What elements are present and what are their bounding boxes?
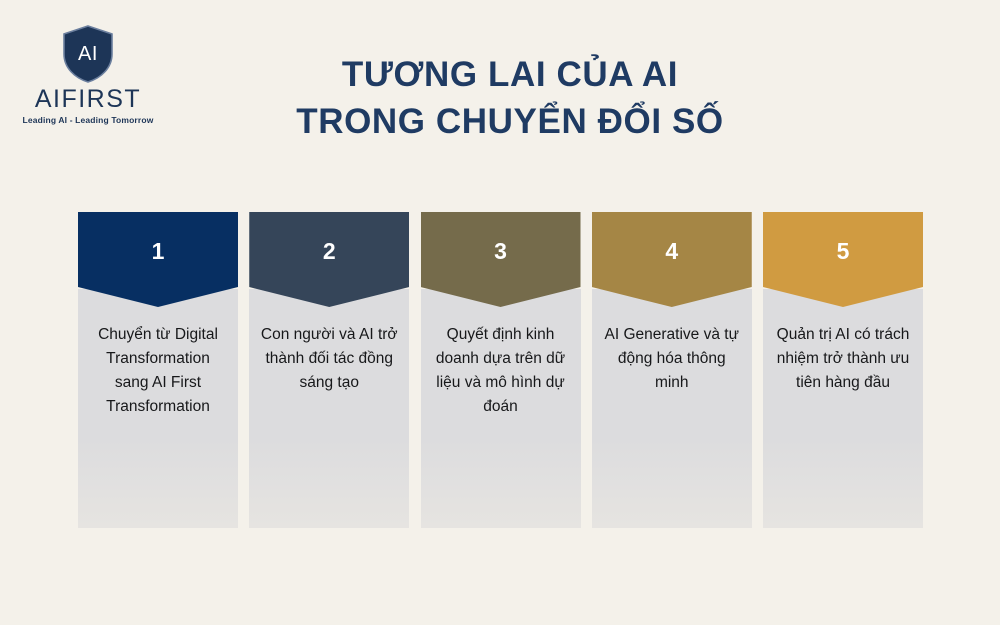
- card-number: 5: [837, 240, 850, 263]
- card-number: 4: [665, 240, 678, 263]
- card-number: 3: [494, 240, 507, 263]
- card-header: 5: [763, 212, 923, 307]
- card-body: Con người và AI trở thành đối tác đồng s…: [249, 289, 409, 528]
- trend-card[interactable]: 4 AI Generative và tự động hóa thông min…: [592, 212, 752, 528]
- card-header: 3: [421, 212, 581, 307]
- svg-text:AI: AI: [78, 43, 98, 65]
- trend-card[interactable]: 5 Quản trị AI có trách nhiệm trở thành ư…: [763, 212, 923, 528]
- page-title: TƯƠNG LAI CỦA AI TRONG CHUYỂN ĐỔI SỐ: [200, 52, 820, 145]
- card-body: Chuyển từ Digital Transformation sang AI…: [78, 289, 238, 528]
- shield-ai-icon: AI: [61, 24, 115, 84]
- trend-card[interactable]: 3 Quyết định kinh doanh dựa trên dữ liệu…: [421, 212, 581, 528]
- card-header: 4: [592, 212, 752, 307]
- card-body: AI Generative và tự động hóa thông minh: [592, 289, 752, 528]
- card-text: Quản trị AI có trách nhiệm trở thành ưu …: [774, 323, 912, 395]
- brand-logo: AI AIFIRST Leading AI - Leading Tomorrow: [18, 24, 158, 126]
- card-text: AI Generative và tự động hóa thông minh: [603, 323, 741, 395]
- card-body: Quản trị AI có trách nhiệm trở thành ưu …: [763, 289, 923, 528]
- card-header: 2: [249, 212, 409, 307]
- trend-card[interactable]: 2 Con người và AI trở thành đối tác đồng…: [249, 212, 409, 528]
- card-text: Chuyển từ Digital Transformation sang AI…: [89, 323, 227, 419]
- card-text: Quyết định kinh doanh dựa trên dữ liệu v…: [432, 323, 570, 419]
- brand-wordmark: AIFIRST: [18, 86, 158, 112]
- card-header: 1: [78, 212, 238, 307]
- title-line-1: TƯƠNG LAI CỦA AI: [200, 52, 820, 99]
- title-line-2: TRONG CHUYỂN ĐỔI SỐ: [200, 99, 820, 146]
- card-body: Quyết định kinh doanh dựa trên dữ liệu v…: [421, 289, 581, 528]
- trend-card[interactable]: 1 Chuyển từ Digital Transformation sang …: [78, 212, 238, 528]
- card-number: 1: [152, 240, 165, 263]
- card-text: Con người và AI trở thành đối tác đồng s…: [260, 323, 398, 395]
- trend-card-row: 1 Chuyển từ Digital Transformation sang …: [78, 212, 923, 528]
- brand-tagline: Leading AI - Leading Tomorrow: [18, 116, 158, 125]
- card-number: 2: [323, 240, 336, 263]
